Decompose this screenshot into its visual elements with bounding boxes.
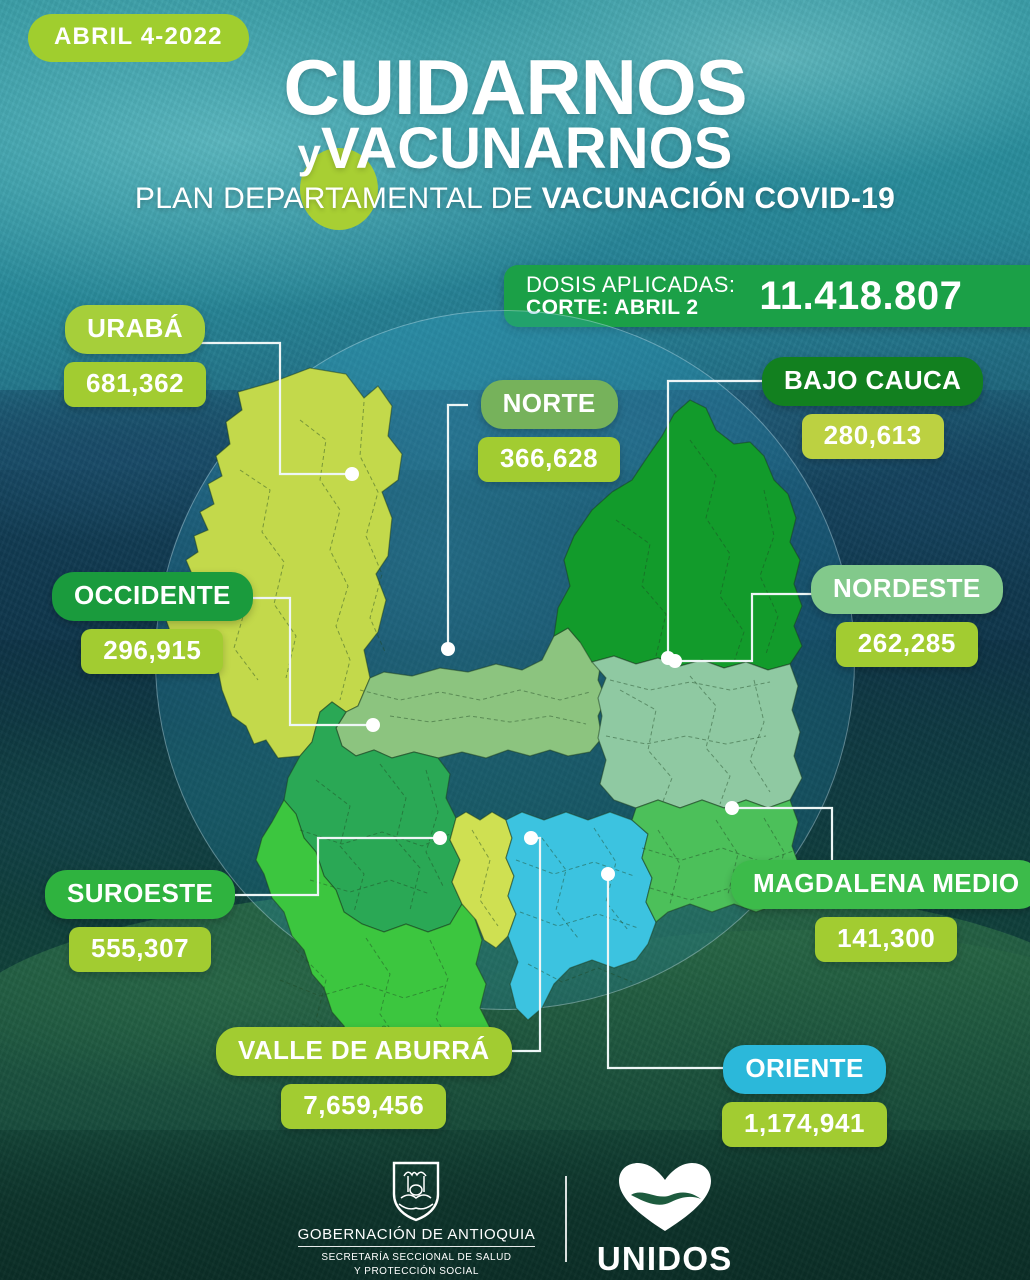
region-label-uraba[interactable]: URABÁ 681,362 (64, 305, 206, 407)
doses-applied-label: DOSIS APLICADAS: (526, 273, 735, 296)
region-label-norte[interactable]: NORTE 366,628 (478, 380, 620, 482)
region-name-magdalena-medio[interactable]: MAGDALENA MEDIO (731, 860, 1030, 909)
region-value-oriente: 1,174,941 (722, 1102, 887, 1147)
region-name-uraba[interactable]: URABÁ (65, 305, 205, 354)
doses-total-number: 11.418.807 (759, 274, 962, 319)
gobernacion-subtitle-line1: SECRETARÍA SECCIONAL DE SALUD (298, 1251, 536, 1265)
region-label-bajo-cauca[interactable]: BAJO CAUCA 280,613 (762, 357, 983, 459)
infographic-canvas: ABRIL 4-2022 CUIDARNOS yVACUNARNOS PLAN … (0, 0, 1030, 1280)
subtitle-bold: VACUNACIÓN COVID-19 (542, 182, 896, 215)
region-label-nordeste[interactable]: NORDESTE 262,285 (811, 565, 1003, 667)
footer-logos: GOBERNACIÓN DE ANTIOQUIA SECRETARÍA SECC… (0, 1160, 1030, 1278)
subtitle-plain: PLAN DEPARTAMENTAL DE (135, 182, 542, 215)
region-value-bajo-cauca: 280,613 (802, 414, 944, 459)
map-region-norte[interactable] (336, 628, 606, 758)
region-label-suroeste[interactable]: SUROESTE 555,307 (45, 870, 235, 972)
region-name-oriente[interactable]: Oriente (723, 1045, 885, 1094)
unidos-heart-icon (617, 1161, 713, 1233)
map-region-nordeste[interactable] (592, 656, 802, 808)
date-badge: ABRIL 4-2022 (28, 14, 249, 62)
region-name-bajo-cauca[interactable]: BAJO CAUCA (762, 357, 983, 406)
region-label-oriente[interactable]: Oriente 1,174,941 (722, 1045, 887, 1147)
map-region-oriente[interactable] (506, 812, 656, 1020)
region-label-magdalena-medio[interactable]: MAGDALENA MEDIO 141,300 (731, 860, 1030, 962)
region-name-suroeste[interactable]: SUROESTE (45, 870, 235, 919)
region-value-valle-de-aburra: 7,659,456 (281, 1084, 446, 1129)
gobernacion-name: GOBERNACIÓN DE ANTIOQUIA (298, 1226, 536, 1247)
region-name-occidente[interactable]: OCCIDENTE (52, 572, 253, 621)
gobernacion-logo-block: GOBERNACIÓN DE ANTIOQUIA SECRETARÍA SECC… (298, 1160, 536, 1278)
unidos-name: UNIDOS (597, 1240, 733, 1278)
region-value-magdalena-medio: 141,300 (815, 917, 957, 962)
coat-of-arms-icon (390, 1160, 442, 1222)
region-value-norte: 366,628 (478, 437, 620, 482)
footer-divider (565, 1176, 567, 1262)
region-name-norte[interactable]: NORTE (481, 380, 618, 429)
region-name-nordeste[interactable]: NORDESTE (811, 565, 1003, 614)
doses-banner-labels: DOSIS APLICADAS: CORTE: ABRIL 2 (526, 273, 735, 318)
region-value-uraba: 681,362 (64, 362, 206, 407)
region-name-valle-de-aburra[interactable]: VALLE DE ABURRÁ (216, 1027, 512, 1076)
gobernacion-subtitle-line2: Y PROTECCIÓN SOCIAL (298, 1265, 536, 1279)
gobernacion-subtitle: SECRETARÍA SECCIONAL DE SALUD Y PROTECCI… (298, 1251, 536, 1278)
region-value-occidente: 296,915 (81, 629, 223, 674)
region-label-occidente[interactable]: OCCIDENTE 296,915 (52, 572, 253, 674)
region-value-nordeste: 262,285 (836, 622, 978, 667)
unidos-logo-block: UNIDOS (597, 1161, 733, 1278)
page-subtitle: PLAN DEPARTAMENTAL DE VACUNACIÓN COVID-1… (0, 182, 1030, 216)
doses-applied-banner: DOSIS APLICADAS: CORTE: ABRIL 2 11.418.8… (504, 265, 1030, 327)
region-label-valle-de-aburra[interactable]: VALLE DE ABURRÁ 7,659,456 (216, 1027, 512, 1129)
region-value-suroeste: 555,307 (69, 927, 211, 972)
